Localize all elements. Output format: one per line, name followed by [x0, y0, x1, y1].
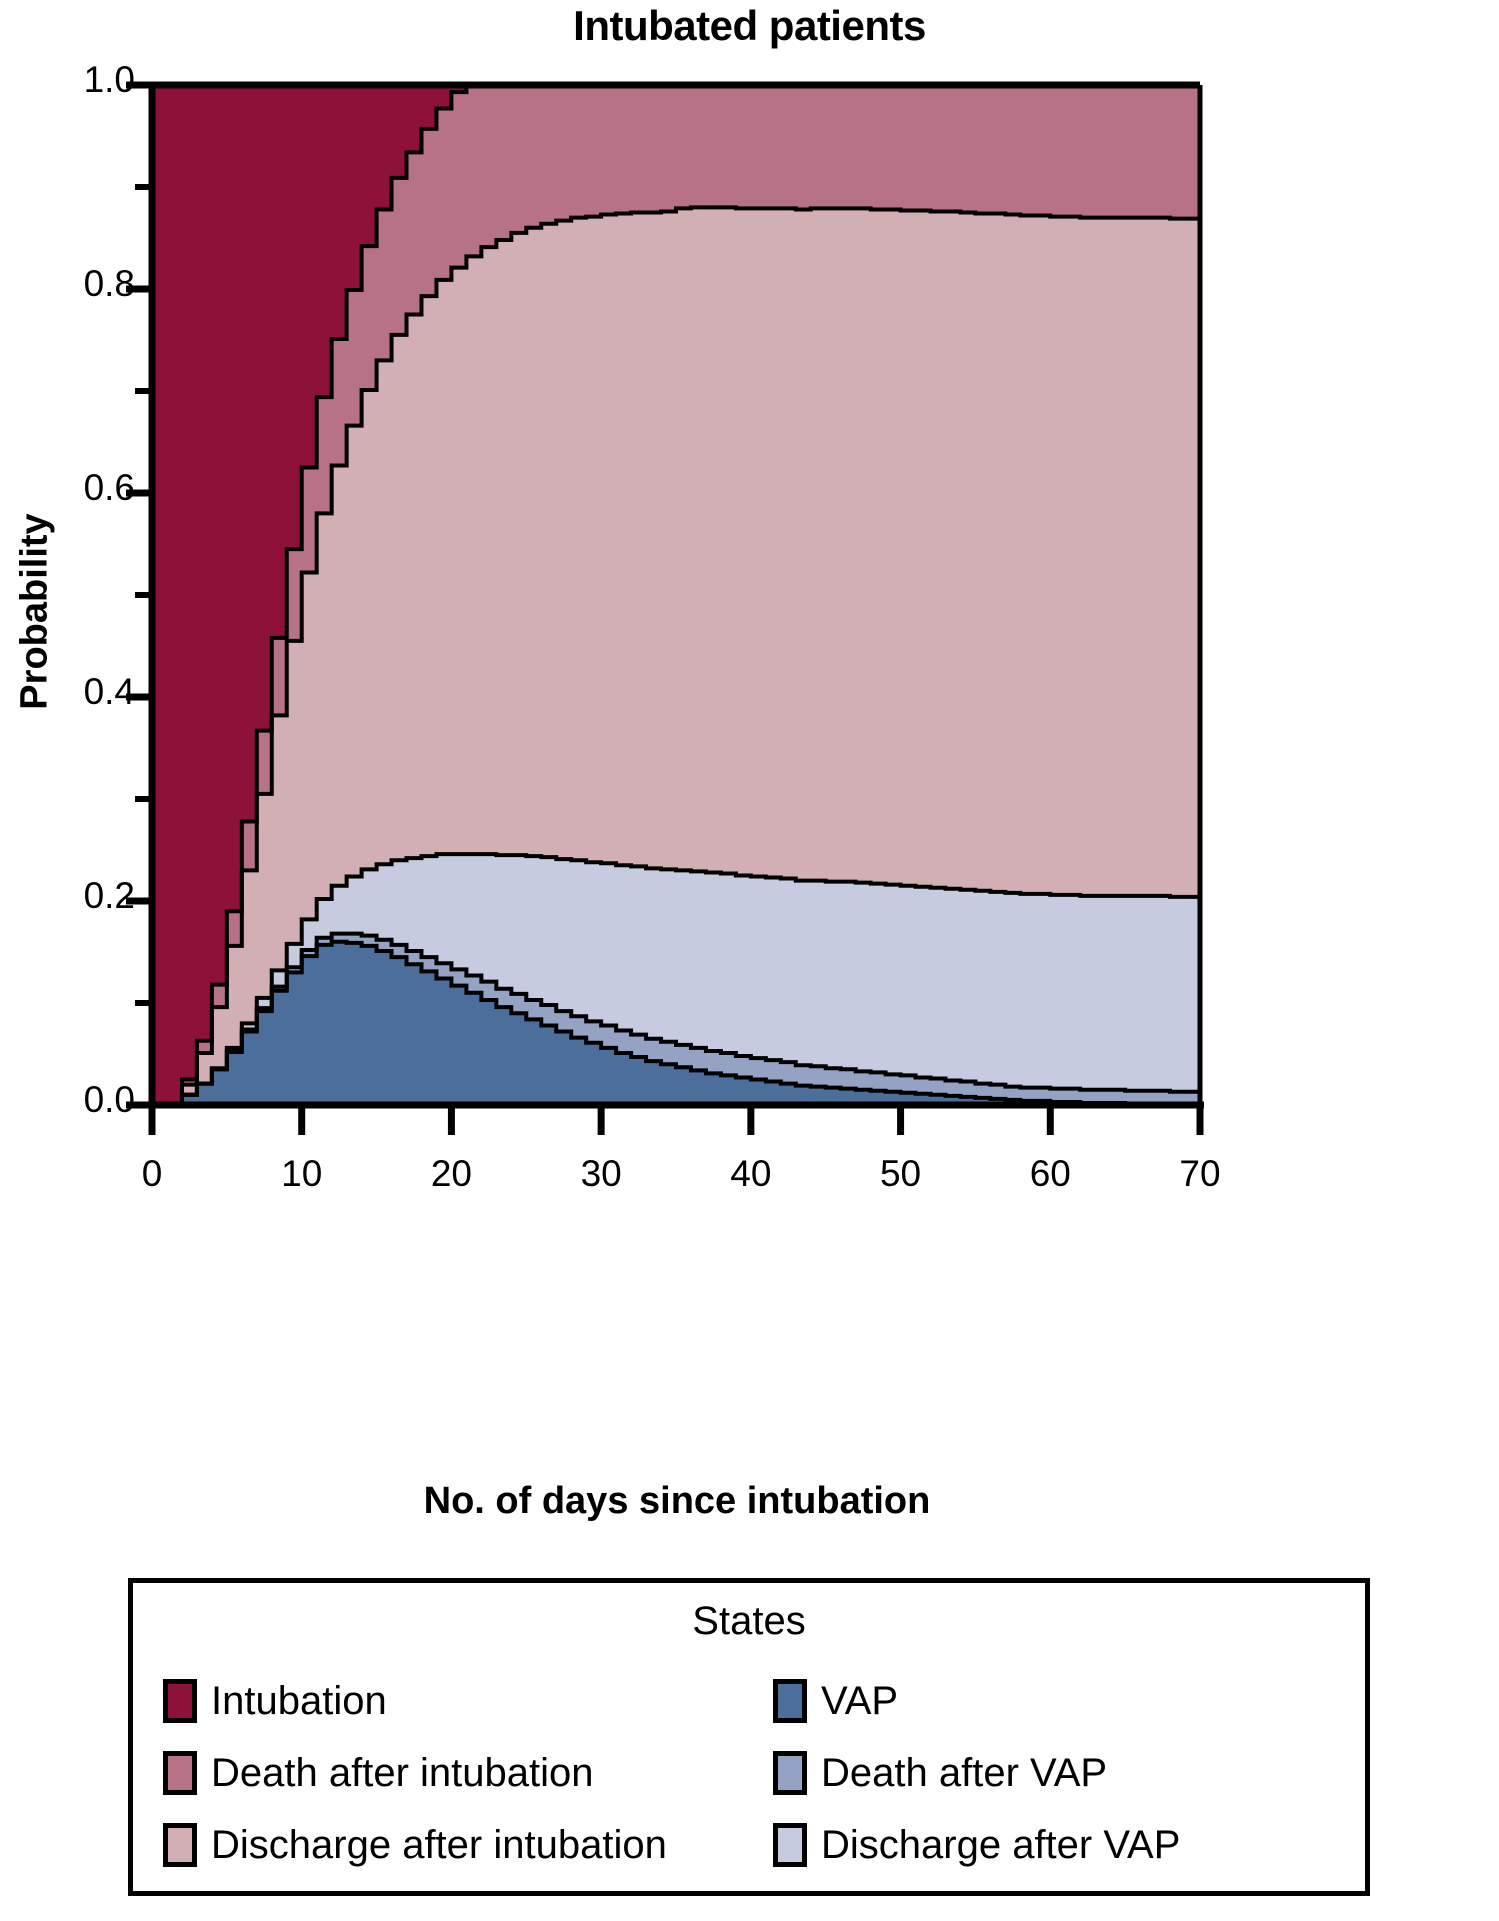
legend-item-label: Death after VAP [821, 1751, 1107, 1796]
legend-item-label: VAP [821, 1679, 898, 1724]
x-axis-title: No. of days since intubation [152, 1480, 1202, 1523]
legend-title: States [133, 1599, 1365, 1644]
legend-swatch-icon [773, 1679, 807, 1723]
legend-swatch-icon [163, 1679, 197, 1723]
x-tick-label: 70 [1140, 1153, 1260, 1195]
legend-item[interactable]: Discharge after intubation [163, 1809, 773, 1881]
x-tick-label: 50 [841, 1153, 961, 1195]
plot-area [0, 0, 1499, 1500]
legend-item-label: Intubation [211, 1679, 387, 1724]
chart-container: Intubated patients Probability 0.00.20.4… [0, 0, 1499, 1921]
y-tick-label: 0.2 [5, 875, 135, 917]
x-tick-label: 60 [990, 1153, 1110, 1195]
legend-item[interactable]: Discharge after VAP [773, 1809, 1343, 1881]
x-tick-label: 10 [242, 1153, 362, 1195]
y-tick-label: 0.6 [5, 467, 135, 509]
legend-swatch-icon [773, 1751, 807, 1795]
legend-item[interactable]: Intubation [163, 1665, 773, 1737]
legend-item[interactable]: Death after VAP [773, 1737, 1343, 1809]
y-tick-label: 0.4 [5, 671, 135, 713]
legend-item[interactable]: Death after intubation [163, 1737, 773, 1809]
x-tick-label: 30 [541, 1153, 661, 1195]
legend-item-label: Discharge after VAP [821, 1823, 1180, 1868]
y-tick-label: 1.0 [5, 59, 135, 101]
legend-items: IntubationVAPDeath after intubationDeath… [163, 1665, 1343, 1881]
legend-item-label: Discharge after intubation [211, 1823, 667, 1868]
y-tick-label: 0.0 [5, 1079, 135, 1121]
x-tick-label: 0 [92, 1153, 212, 1195]
y-tick-label: 0.8 [5, 263, 135, 305]
x-tick-label: 40 [691, 1153, 811, 1195]
legend-swatch-icon [163, 1823, 197, 1867]
legend: States IntubationVAPDeath after intubati… [128, 1578, 1370, 1896]
legend-item-label: Death after intubation [211, 1751, 593, 1796]
x-tick-label: 20 [391, 1153, 511, 1195]
legend-swatch-icon [773, 1823, 807, 1867]
legend-item[interactable]: VAP [773, 1665, 1343, 1737]
legend-swatch-icon [163, 1751, 197, 1795]
